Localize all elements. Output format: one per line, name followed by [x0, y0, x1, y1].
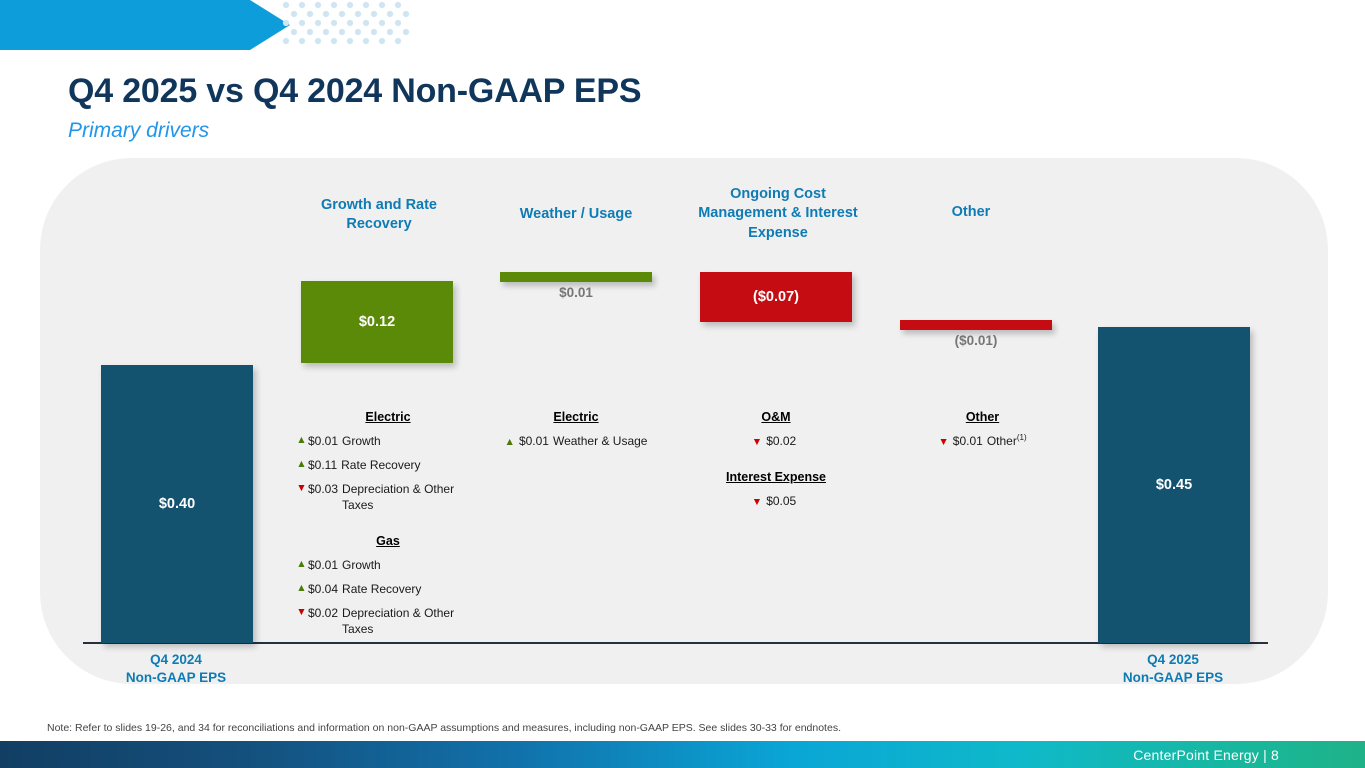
axis-label-q4-2025: Q4 2025 Non-GAAP EPS	[1073, 651, 1273, 686]
detail-block-weather: Electric ▲$0.01Weather & Usage	[500, 411, 652, 457]
detail-amount: $0.02	[766, 434, 796, 448]
triangle-down-icon: ▼	[938, 435, 948, 450]
detail-amount: $0.05	[766, 494, 796, 508]
detail-amount: $0.01	[308, 433, 338, 449]
footnote-text: Note: Refer to slides 19-26, and 34 for …	[47, 722, 841, 734]
detail-title-electric-weather: Electric	[500, 411, 652, 424]
bar-label-other: ($0.01)	[900, 333, 1052, 348]
detail-item: ▲ $0.11 Rate Recovery	[295, 457, 481, 473]
detail-item: ▲ $0.01 Growth	[295, 557, 481, 573]
triangle-down-icon: ▼	[752, 495, 762, 510]
bar-weather-usage[interactable]	[500, 272, 652, 282]
detail-text: Growth	[342, 433, 481, 449]
bar-label-q4-2024: $0.40	[101, 496, 253, 512]
axis-label-q4-2025-line1: Q4 2025	[1073, 651, 1273, 669]
bar-growth-rate-recovery[interactable]: $0.12	[301, 281, 453, 363]
brand-label: CenterPoint Energy | 8	[1133, 747, 1279, 763]
axis-label-q4-2025-line2: Non-GAAP EPS	[1073, 669, 1273, 687]
triangle-down-icon: ▼	[295, 481, 308, 496]
detail-text: Growth	[342, 557, 481, 573]
top-banner	[0, 0, 1365, 52]
bar-label-q4-2025: $0.45	[1098, 477, 1250, 493]
bar-label-growth: $0.12	[301, 314, 453, 330]
triangle-up-icon: ▲	[295, 557, 308, 572]
bar-other[interactable]	[900, 320, 1052, 330]
column-header-weather: Weather / Usage	[490, 205, 662, 224]
triangle-down-icon: ▼	[752, 435, 762, 450]
page-title: Q4 2025 vs Q4 2024 Non-GAAP EPS	[68, 72, 641, 111]
detail-item: ▲ $0.04 Rate Recovery	[295, 581, 481, 597]
banner-arrow-shape	[0, 0, 290, 50]
column-header-other: Other	[889, 203, 1053, 222]
detail-item: ▼$0.02	[700, 433, 852, 450]
column-header-cost: Ongoing Cost Management & Interest Expen…	[689, 185, 867, 243]
slide-canvas: Q4 2025 vs Q4 2024 Non-GAAP EPS Primary …	[0, 0, 1365, 768]
triangle-up-icon: ▲	[295, 581, 308, 596]
detail-superscript: (1)	[1017, 433, 1027, 442]
detail-block-other: Other ▼$0.01Other(1)	[900, 411, 1065, 457]
bar-q4-2025[interactable]: $0.45	[1098, 327, 1250, 643]
detail-title-gas: Gas	[295, 535, 481, 548]
axis-label-q4-2024-line2: Non-GAAP EPS	[76, 669, 276, 687]
detail-amount: $0.01	[953, 434, 983, 448]
detail-amount: $0.01	[308, 557, 338, 573]
axis-label-q4-2024-line1: Q4 2024	[76, 651, 276, 669]
detail-text: Rate Recovery	[342, 581, 481, 597]
detail-text: Rate Recovery	[341, 457, 481, 473]
chart-baseline-axis	[83, 642, 1268, 644]
detail-block-cost: O&M ▼$0.02 Interest Expense ▼$0.05	[700, 411, 852, 517]
detail-title-interest-expense: Interest Expense	[700, 471, 852, 484]
detail-item: ▲ $0.01 Growth	[295, 433, 481, 449]
detail-item: ▼$0.05	[700, 493, 852, 510]
detail-text: Weather & Usage	[553, 434, 648, 448]
detail-spacer	[700, 457, 852, 471]
bar-label-weather: $0.01	[500, 285, 652, 300]
detail-item: ▼$0.01Other(1)	[900, 433, 1065, 450]
triangle-up-icon: ▲	[505, 435, 515, 450]
bar-label-cost: ($0.07)	[700, 289, 852, 305]
detail-amount: $0.04	[308, 581, 338, 597]
bar-ongoing-cost[interactable]: ($0.07)	[700, 272, 852, 322]
detail-text: Other	[987, 434, 1017, 448]
detail-amount: $0.03	[308, 481, 338, 497]
triangle-up-icon: ▲	[295, 457, 308, 472]
detail-block-growth: Electric ▲ $0.01 Growth ▲ $0.11 Rate Rec…	[295, 411, 481, 646]
page-subtitle: Primary drivers	[68, 119, 209, 143]
bar-q4-2024[interactable]: $0.40	[101, 365, 253, 643]
detail-text: Depreciation & Other Taxes	[342, 605, 481, 637]
detail-item: ▼ $0.03 Depreciation & Other Taxes	[295, 481, 481, 513]
detail-title-electric: Electric	[295, 411, 481, 424]
detail-spacer	[295, 521, 481, 535]
detail-amount: $0.02	[308, 605, 338, 621]
triangle-down-icon: ▼	[295, 605, 308, 620]
detail-amount: $0.11	[308, 457, 337, 473]
detail-title-om: O&M	[700, 411, 852, 424]
triangle-up-icon: ▲	[295, 433, 308, 448]
detail-item: ▲$0.01Weather & Usage	[500, 433, 652, 450]
detail-item: ▼ $0.02 Depreciation & Other Taxes	[295, 605, 481, 637]
detail-title-other: Other	[900, 411, 1065, 424]
banner-dot-pattern-icon	[278, 0, 413, 50]
column-header-growth: Growth and Rate Recovery	[290, 196, 468, 235]
axis-label-q4-2024: Q4 2024 Non-GAAP EPS	[76, 651, 276, 686]
detail-amount: $0.01	[519, 434, 549, 448]
detail-text: Depreciation & Other Taxes	[342, 481, 481, 513]
